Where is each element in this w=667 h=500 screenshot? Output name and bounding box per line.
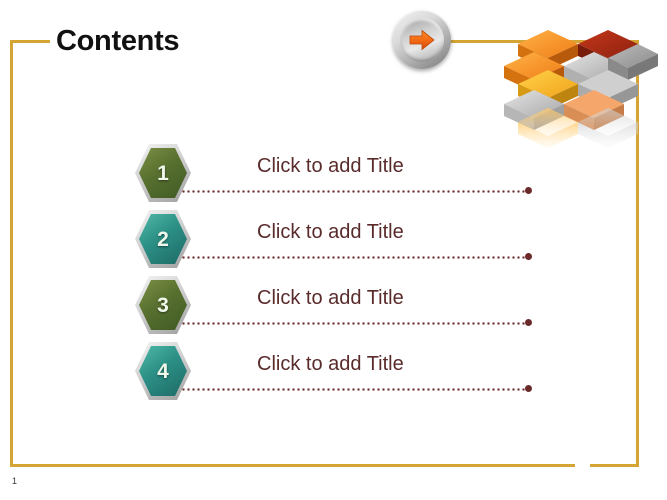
item-dotted-leader <box>181 322 526 325</box>
item-hexagon[interactable]: 1 <box>135 144 191 202</box>
page-title: Contents <box>56 25 179 58</box>
item-leader-end-dot <box>525 253 532 260</box>
page-number: 1 <box>12 476 17 486</box>
item-number: 1 <box>157 163 169 184</box>
arrow-right-button[interactable] <box>393 11 451 69</box>
item-dotted-leader <box>181 388 526 391</box>
item-dotted-leader <box>181 256 526 259</box>
list-item[interactable]: 1 Click to add Title <box>0 144 667 206</box>
item-title[interactable]: Click to add Title <box>257 353 404 376</box>
item-dotted-leader <box>181 190 526 193</box>
item-title[interactable]: Click to add Title <box>257 287 404 310</box>
item-number: 3 <box>157 295 169 316</box>
slide-canvas: Contents <box>0 0 667 500</box>
item-title[interactable]: Click to add Title <box>257 221 404 244</box>
list-item[interactable]: 2 Click to add Title <box>0 210 667 272</box>
item-number: 4 <box>157 361 169 382</box>
item-hexagon[interactable]: 4 <box>135 342 191 400</box>
item-hexagon[interactable]: 3 <box>135 276 191 334</box>
item-title[interactable]: Click to add Title <box>257 155 404 178</box>
item-leader-end-dot <box>525 187 532 194</box>
list-item[interactable]: 3 Click to add Title <box>0 276 667 338</box>
frame-bottom-border <box>10 464 575 467</box>
arrow-button-inner <box>400 18 444 62</box>
item-leader-end-dot <box>525 319 532 326</box>
frame-bottom-right-border <box>590 464 638 467</box>
frame-top-right-border <box>450 40 639 43</box>
item-number: 2 <box>157 229 169 250</box>
item-hexagon[interactable]: 2 <box>135 210 191 268</box>
frame-top-left-border <box>10 40 50 43</box>
arrow-right-icon <box>408 28 436 52</box>
item-leader-end-dot <box>525 385 532 392</box>
list-item[interactable]: 4 Click to add Title <box>0 342 667 404</box>
